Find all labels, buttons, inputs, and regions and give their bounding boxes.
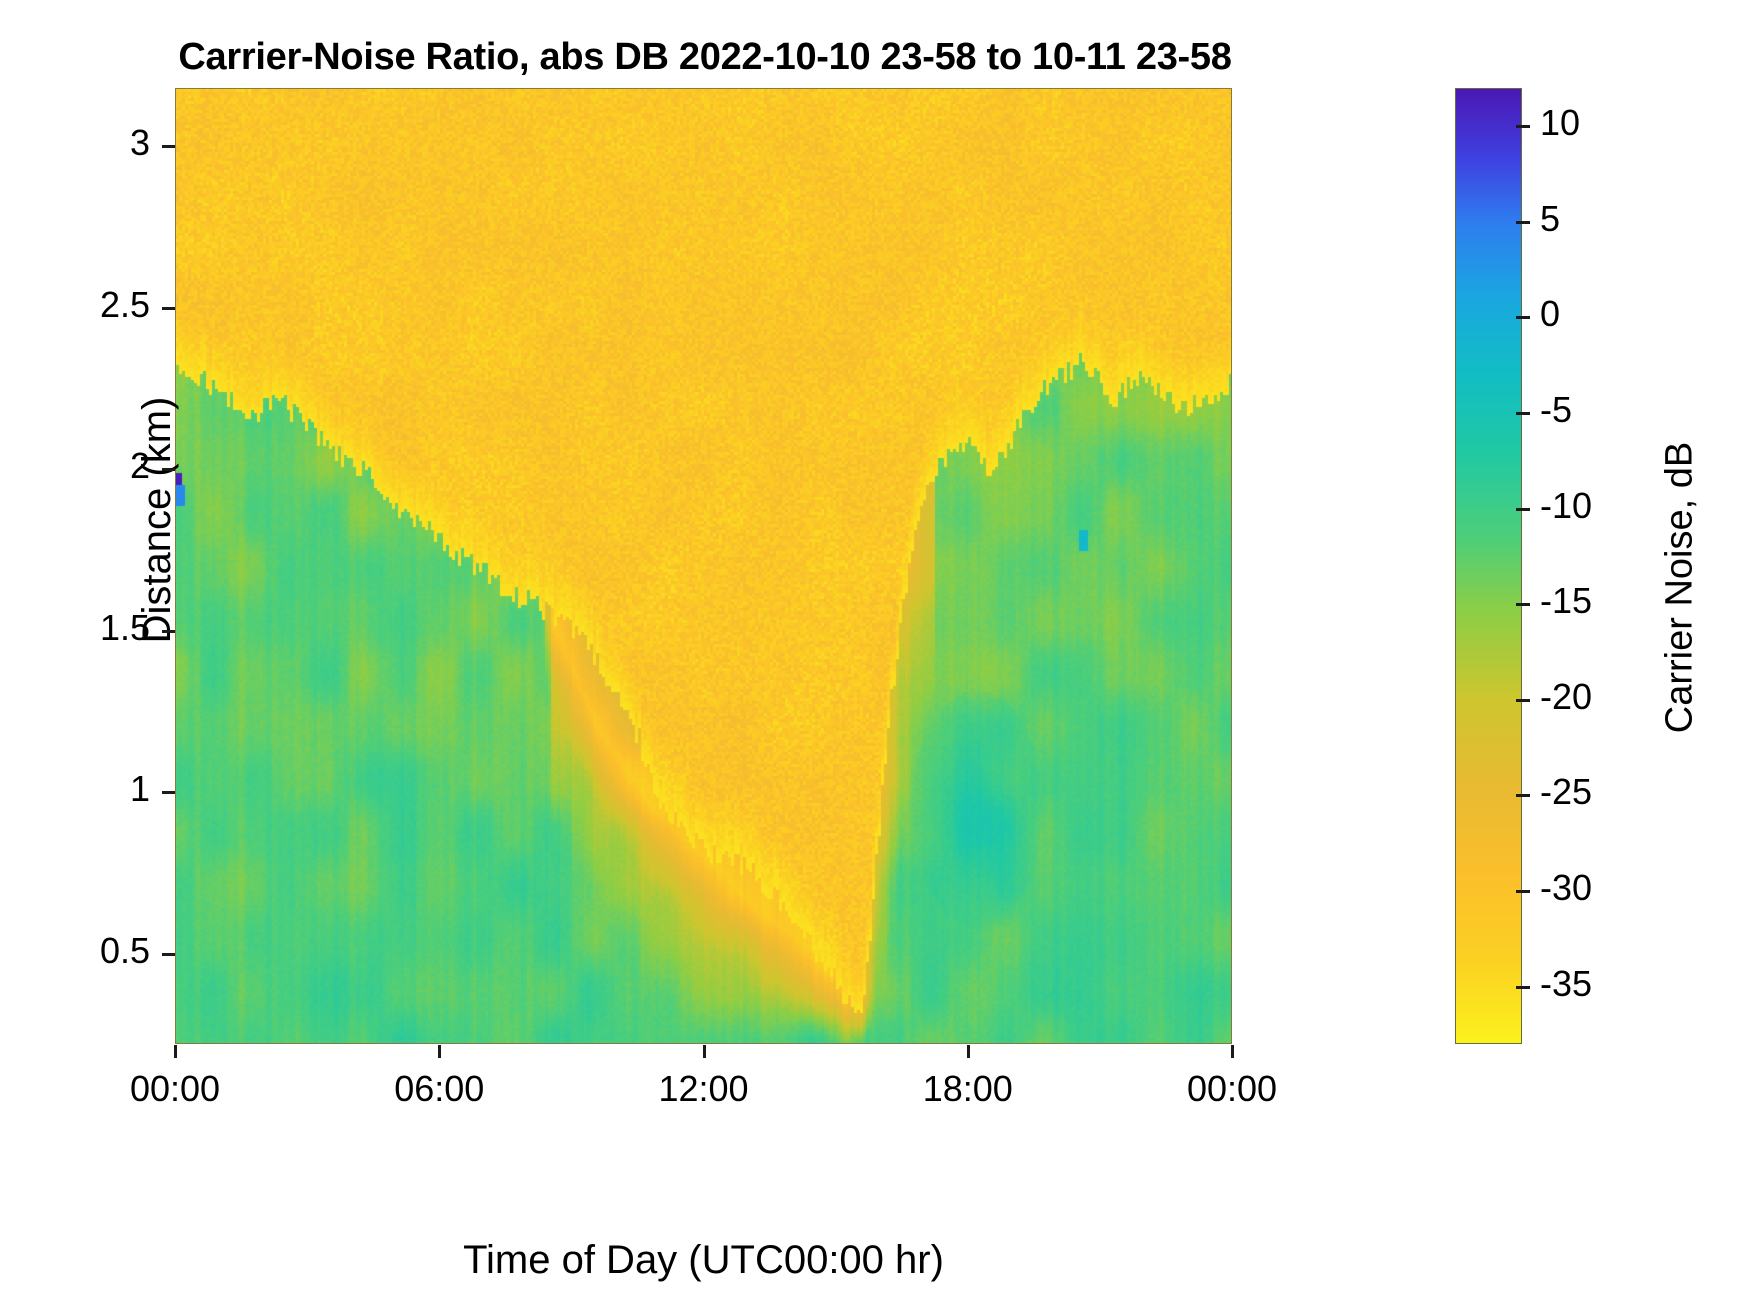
colorbar-gradient	[1456, 89, 1521, 1043]
chart-title: Carrier-Noise Ratio, abs DB 2022-10-10 2…	[0, 36, 1410, 79]
x-axis-tick-label: 12:00	[614, 1068, 794, 1110]
x-axis-tick-mark	[438, 1045, 441, 1058]
x-axis-tick-label: 00:00	[1142, 1068, 1322, 1110]
colorbar-tick-mark	[1516, 221, 1530, 224]
x-axis-label: Time of Day (UTC00:00 hr)	[175, 1238, 1232, 1283]
y-axis-tick-mark	[162, 630, 175, 633]
y-axis-tick-mark	[162, 791, 175, 794]
colorbar-tick-mark	[1516, 508, 1530, 511]
y-axis-tick-label: 0.5	[22, 930, 150, 972]
colorbar-tick-label: -25	[1540, 771, 1592, 813]
y-axis-tick-mark	[162, 307, 175, 310]
y-axis-tick-label: 2	[22, 445, 150, 487]
x-axis-tick-label: 18:00	[878, 1068, 1058, 1110]
y-axis-tick-mark	[162, 953, 175, 956]
figure-root: Carrier-Noise Ratio, abs DB 2022-10-10 2…	[0, 0, 1750, 1313]
x-axis-tick-mark	[967, 1045, 970, 1058]
colorbar-tick-label: 5	[1540, 198, 1560, 240]
colorbar[interactable]	[1455, 88, 1522, 1044]
y-axis-tick-mark	[162, 468, 175, 471]
heatmap-canvas	[176, 89, 1232, 1044]
colorbar-tick-label: -20	[1540, 676, 1592, 718]
colorbar-tick-mark	[1516, 412, 1530, 415]
colorbar-tick-label: -35	[1540, 963, 1592, 1005]
colorbar-tick-label: -10	[1540, 485, 1592, 527]
colorbar-tick-label: -5	[1540, 389, 1572, 431]
y-axis-tick-label: 2.5	[22, 284, 150, 326]
colorbar-tick-mark	[1516, 986, 1530, 989]
colorbar-tick-mark	[1516, 794, 1530, 797]
colorbar-tick-label: -30	[1540, 867, 1592, 909]
colorbar-tick-label: -15	[1540, 580, 1592, 622]
x-axis-tick-mark	[1231, 1045, 1234, 1058]
x-axis-tick-mark	[174, 1045, 177, 1058]
y-axis-tick-label: 1	[22, 768, 150, 810]
colorbar-tick-mark	[1516, 603, 1530, 606]
colorbar-tick-mark	[1516, 699, 1530, 702]
y-axis-tick-label: 3	[22, 122, 150, 164]
heatmap-axes[interactable]	[175, 88, 1232, 1044]
x-axis-tick-label: 00:00	[85, 1068, 265, 1110]
y-axis-tick-mark	[162, 145, 175, 148]
colorbar-tick-mark	[1516, 125, 1530, 128]
colorbar-tick-mark	[1516, 890, 1530, 893]
y-axis-tick-label: 1.5	[22, 607, 150, 649]
colorbar-label-wrap: Carrier Noise, dB	[1650, 88, 1710, 1044]
colorbar-tick-mark	[1516, 316, 1530, 319]
x-axis-tick-mark	[703, 1045, 706, 1058]
x-axis-tick-label: 06:00	[349, 1068, 529, 1110]
colorbar-tick-label: 0	[1540, 293, 1560, 335]
colorbar-label: Carrier Noise, dB	[1659, 388, 1702, 788]
colorbar-tick-label: 10	[1540, 102, 1580, 144]
